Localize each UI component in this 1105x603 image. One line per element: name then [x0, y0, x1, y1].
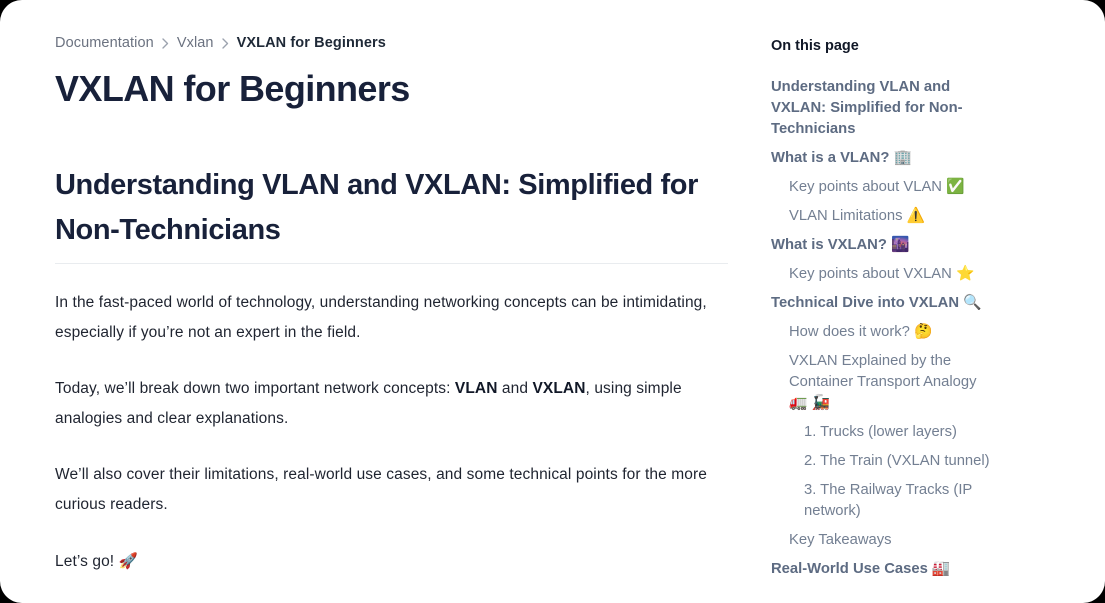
page-layout: DocumentationVxlanVXLAN for Beginners VX…	[0, 0, 1105, 603]
section-heading: Understanding VLAN and VXLAN: Simplified…	[55, 163, 728, 263]
page-title: VXLAN for Beginners	[55, 67, 728, 111]
toc-item-10[interactable]: 1. Trucks (lower layers)	[771, 422, 996, 443]
breadcrumb: DocumentationVxlanVXLAN for Beginners	[55, 33, 728, 53]
toc-item-5[interactable]: What is VXLAN? 🌆	[771, 235, 996, 256]
on-this-page-sidebar: On this page Understanding VLAN and VXLA…	[760, 0, 1105, 588]
table-of-contents: Understanding VLAN and VXLAN: Simplified…	[771, 77, 1045, 580]
emphasis-text: VLAN	[455, 380, 498, 397]
heading-divider	[55, 263, 728, 264]
paragraph-coverage: We’ll also cover their limitations, real…	[55, 460, 727, 520]
documentation-page: DocumentationVxlanVXLAN for Beginners VX…	[0, 0, 1105, 603]
toc-item-13[interactable]: Key Takeaways	[771, 530, 996, 551]
text-run: We’ll also cover their limitations, real…	[55, 466, 707, 513]
article-body: In the fast-paced world of technology, u…	[55, 288, 728, 577]
text-run: In the fast-paced world of technology, u…	[55, 294, 707, 341]
breadcrumb-item-3: VXLAN for Beginners	[237, 33, 386, 53]
toc-item-9[interactable]: VXLAN Explained by the Container Transpo…	[771, 351, 996, 414]
paragraph-lets-go: Let’s go! 🚀	[55, 546, 727, 577]
toc-item-14[interactable]: Real-World Use Cases 🏭	[771, 559, 996, 580]
rocket-emoji: 🚀	[119, 552, 138, 570]
toc-item-11[interactable]: 2. The Train (VXLAN tunnel)	[771, 451, 996, 472]
toc-item-1[interactable]: Understanding VLAN and VXLAN: Simplified…	[771, 77, 996, 140]
paragraph-intro: In the fast-paced world of technology, u…	[55, 288, 727, 348]
on-this-page-heading: On this page	[771, 36, 1045, 56]
text-run: and	[497, 380, 532, 397]
toc-item-3[interactable]: Key points about VLAN ✅	[771, 177, 996, 198]
chevron-right-icon	[222, 38, 229, 49]
chevron-right-icon	[162, 38, 169, 49]
toc-item-12[interactable]: 3. The Railway Tracks (IP network)	[771, 480, 996, 522]
breadcrumb-item-2[interactable]: Vxlan	[177, 33, 214, 53]
toc-item-8[interactable]: How does it work? 🤔	[771, 322, 996, 343]
text-run: Let’s go!	[55, 553, 119, 570]
text-run: Today, we’ll break down two important ne…	[55, 380, 455, 397]
paragraph-concepts: Today, we’ll break down two important ne…	[55, 374, 727, 434]
toc-item-2[interactable]: What is a VLAN? 🏢	[771, 148, 996, 169]
toc-item-6[interactable]: Key points about VXLAN ⭐	[771, 264, 996, 285]
breadcrumb-item-1[interactable]: Documentation	[55, 33, 154, 53]
article-content: DocumentationVxlanVXLAN for Beginners VX…	[0, 0, 760, 603]
toc-item-7[interactable]: Technical Dive into VXLAN 🔍	[771, 293, 996, 314]
toc-item-4[interactable]: VLAN Limitations ⚠️	[771, 206, 996, 227]
emphasis-text: VXLAN	[532, 380, 585, 397]
